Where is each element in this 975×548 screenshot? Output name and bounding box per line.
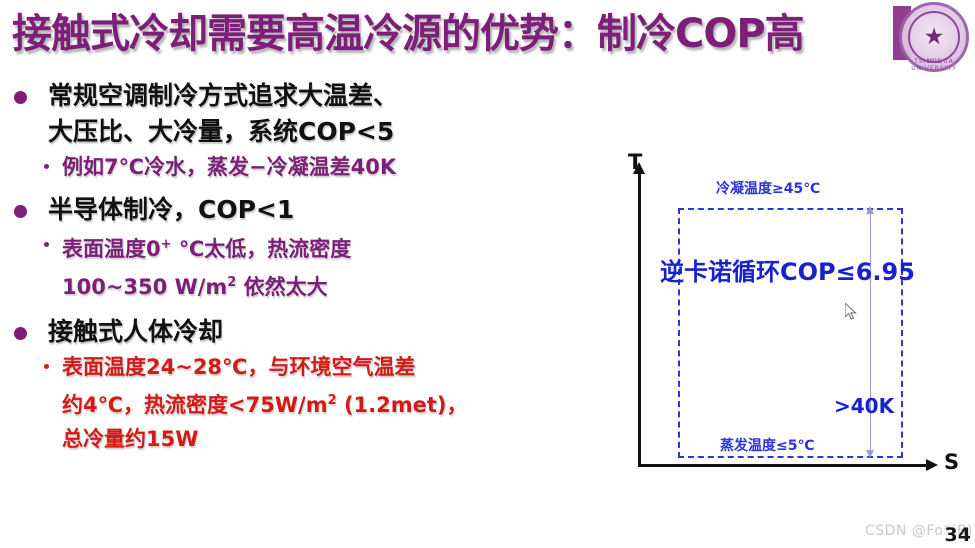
seal-ring-text: TSINGHUA UNIVERSITY	[895, 58, 973, 72]
sub-bullet-2-1-superscript-a: +	[161, 237, 172, 252]
temperature-axis-label: T	[628, 150, 642, 174]
bullet-dot-icon	[14, 205, 27, 218]
bullet-dot-icon	[14, 327, 27, 340]
bullet-1-line-2: 大压比、大冷量，系统COP<5	[0, 114, 600, 150]
bullet-2-line-1: 半导体制冷，COP<1	[48, 195, 294, 224]
sub-bullet-2-1: 表面温度0+ ℃太低，热流密度	[0, 228, 600, 266]
sub-bullet-1-1-text: 例如7℃冷水，蒸发−冷凝温差40K	[62, 155, 396, 179]
tsinghua-university-logo: ★ 1911 TSINGHUA UNIVERSITY	[895, 0, 973, 76]
bullet-list: 常规空调制冷方式追求大温差、 大压比、大冷量，系统COP<5 例如7℃冷水，蒸发…	[0, 78, 600, 456]
sub-bullet-2-1-text-a: 表面温度0	[62, 237, 161, 261]
sub-bullet-3-1-line-2-b: (1.2met)，	[337, 393, 468, 417]
entropy-axis-line	[638, 464, 930, 467]
delta-temperature-label: >40K	[834, 394, 894, 418]
entropy-axis-arrow-icon	[926, 459, 938, 471]
bullet-group-2: 半导体制冷，COP<1 表面温度0+ ℃太低，热流密度 100~350 W/m2…	[0, 192, 600, 304]
condensing-temperature-label: 冷凝温度≥45℃	[716, 178, 820, 198]
sub-bullet-dot-icon	[44, 164, 49, 169]
bullet-dot-icon	[14, 91, 27, 104]
page-number: 34	[945, 524, 971, 546]
bullet-main-text: 接触式人体冷却	[0, 314, 600, 350]
bullet-main-text: 半导体制冷，COP<1	[0, 192, 600, 228]
sub-bullet-2-1-cont-b: 依然太大	[236, 275, 327, 299]
entropy-axis-label: S	[944, 450, 959, 474]
sub-bullet-3-1-line-1: 表面温度24~28℃，与环境空气温差	[62, 355, 415, 379]
sub-bullet-2-1-superscript-b: 2	[227, 275, 236, 290]
bullet-group-3: 接触式人体冷却 表面温度24~28℃，与环境空气温差 约4℃，热流密度<75W/…	[0, 314, 600, 456]
bullet-1-line-1: 常规空调制冷方式追求大温差、	[48, 81, 398, 110]
delta-t-arrow-down-icon	[866, 450, 874, 458]
sub-bullet-3-1-superscript: 2	[328, 393, 337, 408]
sub-bullet-2-1-text-b: ℃太低，热流密度	[172, 237, 352, 261]
delta-t-arrow-up-icon	[866, 206, 874, 214]
sub-bullet-3-1: 表面温度24~28℃，与环境空气温差	[0, 350, 600, 384]
evaporating-temperature-label: 蒸发温度≤5℃	[720, 435, 814, 455]
sub-bullet-2-1-cont-a: 100~350 W/m	[62, 275, 227, 299]
sub-bullet-dot-icon	[44, 364, 49, 369]
sub-bullet-2-1-continued: 100~350 W/m2 依然太大	[0, 266, 600, 304]
bullet-main-text: 常规空调制冷方式追求大温差、	[0, 78, 600, 114]
bullet-3-line-1: 接触式人体冷却	[48, 317, 223, 346]
sub-bullet-dot-icon	[44, 242, 49, 247]
sub-bullet-3-1-line-2: 约4℃，热流密度<75W/m2 (1.2met)，	[0, 384, 600, 422]
bullet-group-1: 常规空调制冷方式追求大温差、 大压比、大冷量，系统COP<5 例如7℃冷水，蒸发…	[0, 78, 600, 184]
sub-bullet-1-1: 例如7℃冷水，蒸发−冷凝温差40K	[0, 150, 600, 184]
sub-bullet-3-1-line-2-a: 约4℃，热流密度<75W/m	[62, 393, 328, 417]
temperature-axis-line	[638, 172, 641, 467]
sub-bullet-3-1-line-3: 总冷量约15W	[0, 422, 600, 456]
star-icon: ★	[924, 26, 945, 49]
carnot-cop-label: 逆卡诺循环COP≤6.95	[660, 252, 915, 287]
page-title: 接触式冷却需要高温冷源的优势：制冷COP高	[12, 4, 917, 66]
mouse-cursor-icon	[845, 303, 859, 321]
ts-diagram: T S 冷凝温度≥45℃ 逆卡诺循环COP≤6.95 >40K 蒸发温度≤5℃	[608, 150, 968, 495]
delta-t-arrow-line	[870, 212, 871, 456]
